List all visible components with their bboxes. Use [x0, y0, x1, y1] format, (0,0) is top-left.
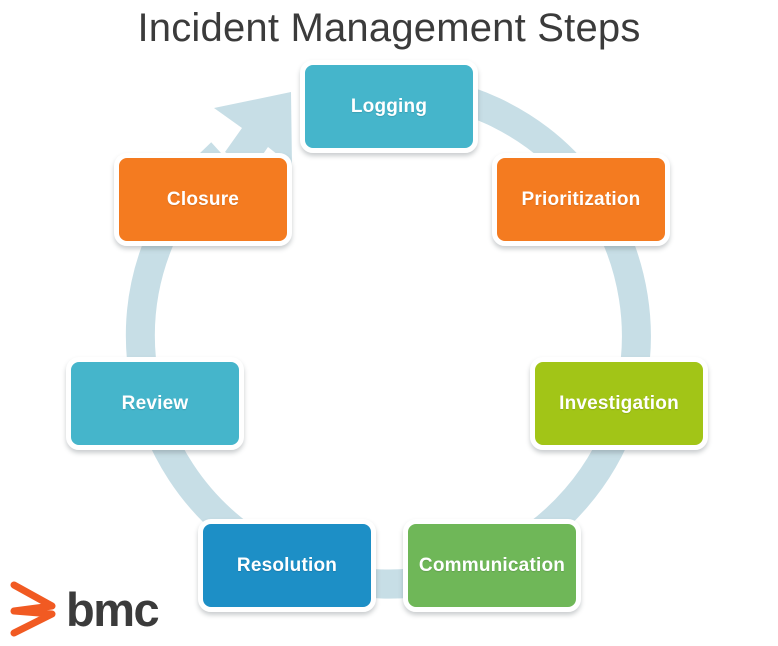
- step-label-resolution: Resolution: [237, 555, 337, 577]
- step-label-logging: Logging: [351, 96, 427, 118]
- page-title: Incident Management Steps: [0, 2, 778, 54]
- step-label-communication: Communication: [419, 555, 565, 577]
- step-label-review: Review: [122, 393, 189, 415]
- step-label-prioritization: Prioritization: [522, 189, 641, 211]
- step-box-resolution[interactable]: Resolution: [198, 519, 376, 612]
- step-box-prioritization[interactable]: Prioritization: [492, 153, 670, 246]
- diagram-canvas: Incident Management Steps Logging Priori…: [0, 0, 778, 646]
- step-box-review[interactable]: Review: [66, 357, 244, 450]
- step-box-communication[interactable]: Communication: [403, 519, 581, 612]
- step-box-closure[interactable]: Closure: [114, 153, 292, 246]
- step-label-investigation: Investigation: [559, 393, 679, 415]
- step-box-logging[interactable]: Logging: [300, 60, 478, 153]
- bmc-logo: bmc: [8, 578, 173, 640]
- bmc-wordmark: bmc: [66, 586, 158, 633]
- step-label-closure: Closure: [167, 189, 239, 211]
- bmc-chevron-icon: [8, 581, 60, 637]
- step-box-investigation[interactable]: Investigation: [530, 357, 708, 450]
